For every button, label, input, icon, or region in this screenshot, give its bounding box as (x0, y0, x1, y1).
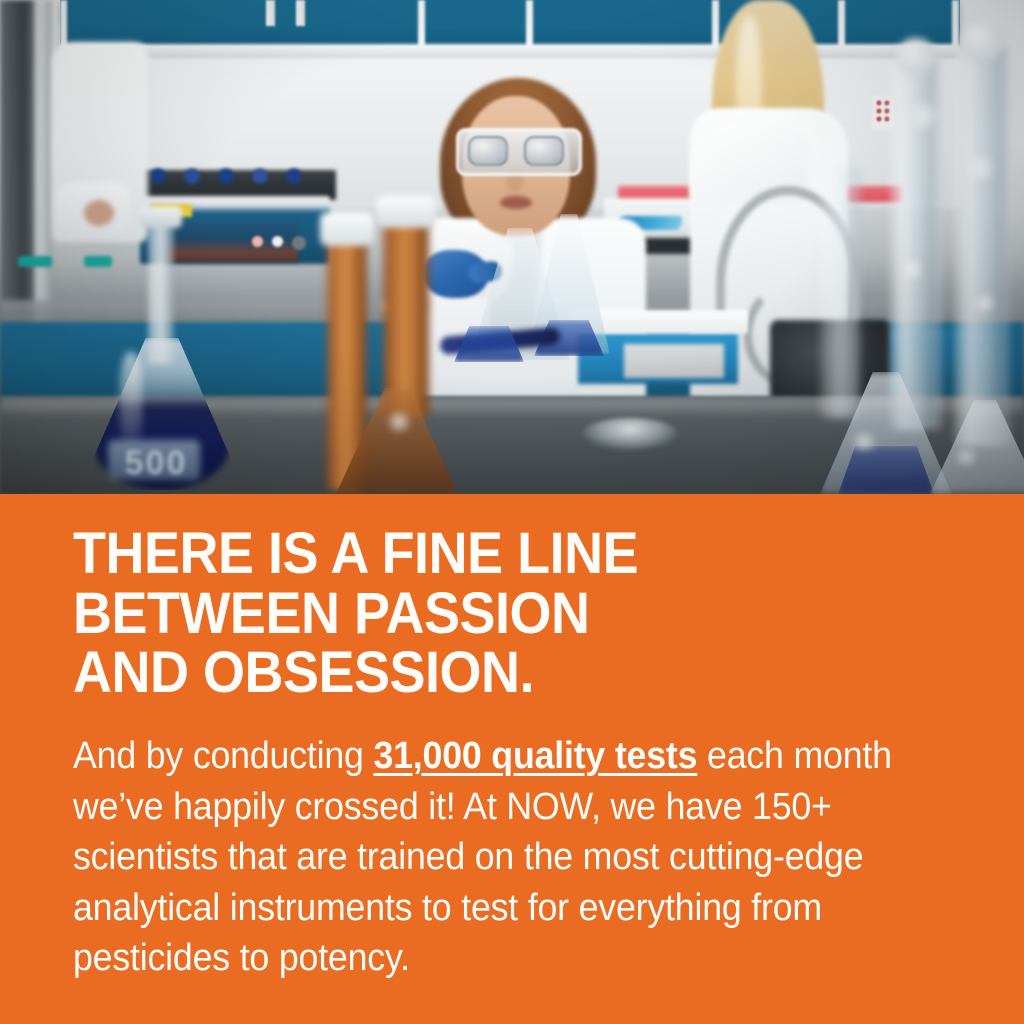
partial-scientist-left-hand (84, 200, 114, 226)
clear-glass-column-right-2 (954, 46, 1010, 446)
analytical-balance-panel (624, 344, 724, 378)
amber-cylinder-stopper-1 (320, 212, 374, 246)
orange-text-panel: THERE IS A FINE LINE BETWEEN PASSION AND… (0, 494, 1024, 1024)
glass-column-stopper-1 (896, 38, 936, 76)
cabinet-divider (296, 0, 305, 26)
volumetric-flask-volume-text: 500 (110, 444, 202, 483)
clear-glass-column-right-3 (820, 168, 860, 418)
sample-vials-rack (146, 168, 328, 184)
cabinet-divider (266, 0, 275, 26)
instrument-knob-red (252, 236, 263, 247)
wall-outlet-sockets (876, 100, 890, 126)
bokeh-highlight (898, 258, 926, 280)
teal-cap-item (84, 256, 112, 267)
headline-line-3: AND OBSESSION. (73, 643, 891, 703)
headline-line-2: BETWEEN PASSION (73, 584, 891, 644)
bokeh-highlight (972, 292, 998, 314)
quality-tests-emphasis: 31,000 quality tests (373, 735, 697, 777)
cabinet-frame (838, 0, 845, 48)
cabinet-frame (60, 0, 67, 48)
volumetric-flask-highlight (120, 352, 142, 452)
goggles-lens-left (468, 136, 508, 166)
cabinet-frame (712, 0, 719, 48)
page-title: THERE IS A FINE LINE BETWEEN PASSION AND… (73, 524, 891, 703)
watch-glass-dish (582, 418, 678, 450)
headline-line-1: THERE IS A FINE LINE (73, 524, 891, 584)
bokeh-highlight (906, 96, 940, 136)
teal-cap-item (18, 256, 52, 267)
female-scientist-mouth (500, 196, 532, 209)
instrument-knob-white (272, 236, 283, 247)
cabinet-frame (952, 0, 959, 48)
body-paragraph: And by conducting 31,000 quality tests e… (73, 731, 919, 984)
cabinet-frame (526, 0, 533, 48)
body-text-before: And by conducting (73, 735, 373, 777)
bokeh-highlight (384, 410, 414, 434)
volumetric-flask-stopper (140, 206, 182, 228)
bokeh-highlight (966, 150, 996, 186)
bokeh-highlight (846, 432, 882, 452)
upper-cabinet-band (60, 0, 960, 46)
goggles-lens-right (524, 136, 564, 166)
instrument-knob-gray (292, 236, 306, 250)
glass-column-stopper-2 (960, 22, 1004, 62)
bokeh-highlight (950, 448, 982, 466)
poster: 500 THERE IS A FINE LINE BETWEEN PASSION… (0, 0, 1024, 1024)
cabinet-frame (418, 0, 425, 48)
amber-cylinder-stopper-2 (376, 196, 436, 228)
lab-photograph: 500 (0, 0, 1024, 494)
